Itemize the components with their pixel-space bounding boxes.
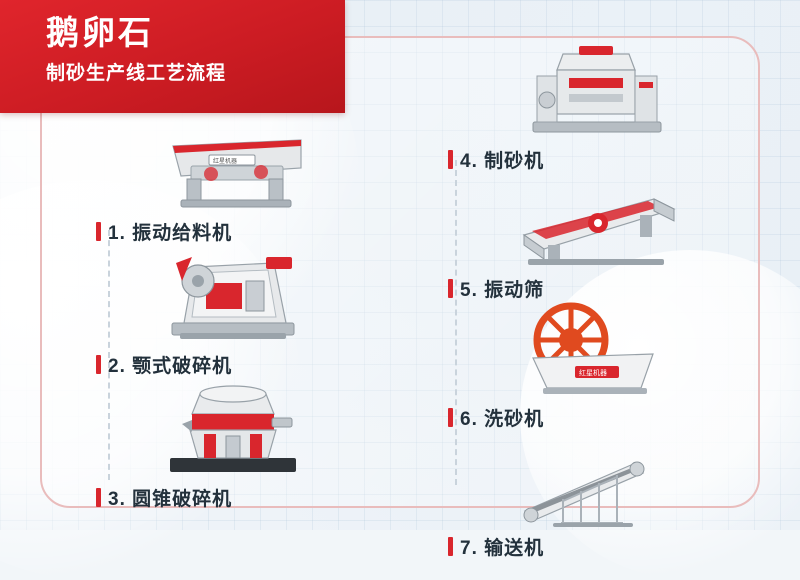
jaw-crusher-icon — [96, 251, 366, 347]
vibrating-feeder-icon: 红星机器 — [96, 118, 366, 214]
step-marker — [448, 408, 453, 427]
step-marker — [448, 537, 453, 556]
banner-subtitle: 制砂生产线工艺流程 — [46, 64, 226, 83]
banner-title: 鹅卵石 — [46, 16, 154, 49]
step-marker — [96, 488, 101, 507]
svg-text:红星机器: 红星机器 — [579, 368, 607, 377]
diagram-canvas: 鹅卵石 制砂生产线工艺流程 红星机器 — [0, 0, 800, 530]
left-step-column: 红星机器 1. 振动给料机 — [96, 118, 366, 511]
svg-text:红星机器: 红星机器 — [213, 157, 237, 165]
step-item[interactable]: 5. 振动筛 — [448, 175, 738, 302]
step-label-row: 6. 洗砂机 — [448, 404, 738, 431]
title-banner: 鹅卵石 制砂生产线工艺流程 — [0, 0, 345, 113]
step-item[interactable]: 红星机器 6. 洗砂机 — [448, 304, 738, 431]
sand-washer-icon: 红星机器 — [448, 304, 738, 400]
step-marker — [96, 222, 101, 241]
step-label: 6. 洗砂机 — [460, 404, 544, 431]
step-marker — [96, 355, 101, 374]
step-marker — [448, 279, 453, 298]
step-item[interactable]: 7. 输送机 — [448, 433, 738, 560]
step-label: 3. 圆锥破碎机 — [108, 484, 232, 511]
step-item[interactable]: 2. 颚式破碎机 — [96, 251, 366, 378]
sand-making-machine-icon — [448, 46, 738, 142]
step-label-row: 7. 输送机 — [448, 533, 738, 560]
step-item[interactable]: 红星机器 1. 振动给料机 — [96, 118, 366, 245]
right-step-column: 4. 制砂机 — [448, 46, 738, 560]
step-label: 7. 输送机 — [460, 533, 544, 560]
step-label: 4. 制砂机 — [460, 146, 544, 173]
step-label-row: 4. 制砂机 — [448, 146, 738, 173]
step-item[interactable]: 3. 圆锥破碎机 — [96, 384, 366, 511]
step-label-row: 3. 圆锥破碎机 — [96, 484, 366, 511]
step-item[interactable]: 4. 制砂机 — [448, 46, 738, 173]
belt-conveyor-icon — [448, 433, 738, 529]
step-marker — [448, 150, 453, 169]
vibrating-screen-icon — [448, 175, 738, 271]
cone-crusher-icon — [96, 384, 366, 480]
